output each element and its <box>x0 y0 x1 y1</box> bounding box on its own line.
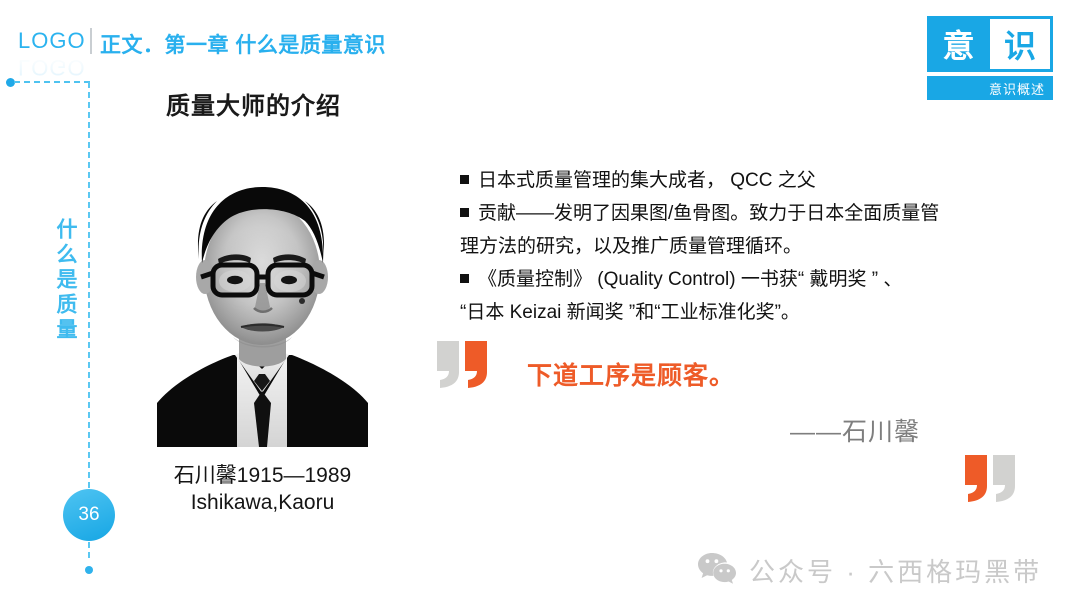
bullet-marker-icon <box>460 274 469 283</box>
bullet-item-2: 贡献——发明了因果图/鱼骨图。致力于日本全面质量管 <box>460 197 1008 230</box>
section-badge-subtitle: 意识概述 <box>989 79 1053 98</box>
header-title: 正文．第一章 什么是质量意识 <box>100 29 386 59</box>
bullet-item-1: 日本式质量管理的集大成者， QCC 之父 <box>460 164 1008 197</box>
rail-end-dot <box>85 566 93 574</box>
header-divider <box>90 28 92 54</box>
page-number-badge: 36 <box>63 489 115 541</box>
portrait-caption: 石川馨1915—1989 Ishikawa,Kaoru <box>155 462 370 516</box>
rail-vertical-dashed-line <box>88 82 90 558</box>
bullet-list: 日本式质量管理的集大成者， QCC 之父 贡献——发明了因果图/鱼骨图。致力于日… <box>460 164 1008 329</box>
section-badge-subtitle-bar: 意识概述 <box>927 76 1053 100</box>
page-title: 质量大师的介绍 <box>166 86 341 121</box>
quote-open-icon <box>434 338 496 390</box>
watermark-text: 公众号 · 六西格玛黑带 <box>749 552 1042 589</box>
quote-text: 下道工序是顾客。 <box>527 356 735 392</box>
sidebar-vertical-label: 什么是质量 <box>52 218 80 343</box>
portrait-caption-line1: 石川馨1915—1989 <box>155 462 370 489</box>
bullet-item-2-cont: 理方法的研究，以及推广质量管理循环。 <box>460 230 1008 263</box>
quote-attribution: ——石川馨 <box>790 412 920 448</box>
logo[interactable]: LOGO LOGO <box>18 28 92 78</box>
wechat-icon <box>697 551 737 590</box>
bullet-marker-icon <box>460 208 469 217</box>
bullet-item-1-text: 日本式质量管理的集大成者， QCC 之父 <box>478 170 816 191</box>
watermark: 公众号 · 六西格玛黑带 <box>697 551 1042 590</box>
bullet-item-3-cont: “日本 Keizai 新闻奖 ”和“工业标准化奖”。 <box>460 296 1008 329</box>
bullet-item-3: 《质量控制》 (Quality Control) 一书获“ 戴明奖 ” 、 <box>460 263 1008 296</box>
section-badge-char-primary: 意 <box>927 16 990 72</box>
bullet-marker-icon <box>460 175 469 184</box>
bullet-item-2-text: 贡献——发明了因果图/鱼骨图。致力于日本全面质量管 <box>478 203 939 224</box>
rail-horizontal-dashed-line <box>14 81 90 83</box>
portrait-photo <box>155 155 370 447</box>
section-badge-char-secondary: 识 <box>990 19 1050 69</box>
portrait-caption-line2: Ishikawa,Kaoru <box>155 489 370 516</box>
bullet-item-3-text: 《质量控制》 (Quality Control) 一书获“ 戴明奖 ” 、 <box>478 269 902 290</box>
logo-text: LOGO <box>18 28 92 54</box>
logo-reflection: LOGO <box>18 54 92 80</box>
section-badge: 意 识 <box>927 16 1053 72</box>
quote-close-icon <box>962 452 1024 504</box>
